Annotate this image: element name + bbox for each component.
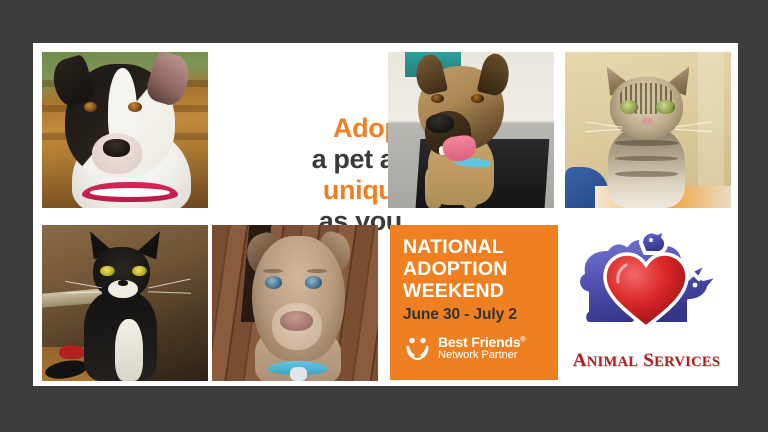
animal-services-logo: ANIMAL SERVICES <box>565 225 728 380</box>
wordmark-animal-cap: A <box>573 350 587 371</box>
promo-title: NATIONAL ADOPTION WEEKEND <box>403 236 550 302</box>
wordmark-services-rest: ERVICES <box>654 354 720 370</box>
animal-services-wordmark: ANIMAL SERVICES <box>565 350 728 372</box>
best-friends-smile-icon <box>404 336 431 361</box>
wordmark-animal-rest: NIMAL <box>587 354 638 370</box>
national-adoption-weekend-promo: NATIONAL ADOPTION WEEKEND June 30 - July… <box>390 225 558 380</box>
white-card: Adopt a pet as unique as you. <box>33 43 738 386</box>
headline: Adopt a pet as unique as you. <box>249 113 409 237</box>
promo-title-line-3: WEEKEND <box>403 280 550 302</box>
headline-line-3: unique <box>249 175 409 206</box>
headline-line-1: Adopt <box>249 113 409 144</box>
network-partner-label: Network Partner <box>438 350 525 362</box>
wordmark-services-cap: S <box>643 350 654 371</box>
best-friends-partner-lockup: Best Friends® Network Partner <box>404 335 525 361</box>
promo-dates: June 30 - July 2 <box>403 306 517 324</box>
promo-title-line-1: NATIONAL <box>403 236 550 258</box>
photo-kitten-tabby <box>565 52 731 208</box>
photo-dog-black-white <box>42 52 208 208</box>
photo-dog-pit-bull <box>212 225 378 381</box>
promo-title-line-2: ADOPTION <box>403 258 550 280</box>
promo-graphic: Adopt a pet as unique as you. <box>0 0 768 432</box>
best-friends-name: Best Friends <box>438 334 520 350</box>
photo-dog-german-shepherd <box>388 52 554 208</box>
animal-services-heart-pets-icon <box>571 227 721 345</box>
photo-cat-tuxedo <box>42 225 208 381</box>
trademark-symbol: ® <box>520 336 525 343</box>
headline-line-2: a pet as <box>249 144 409 175</box>
